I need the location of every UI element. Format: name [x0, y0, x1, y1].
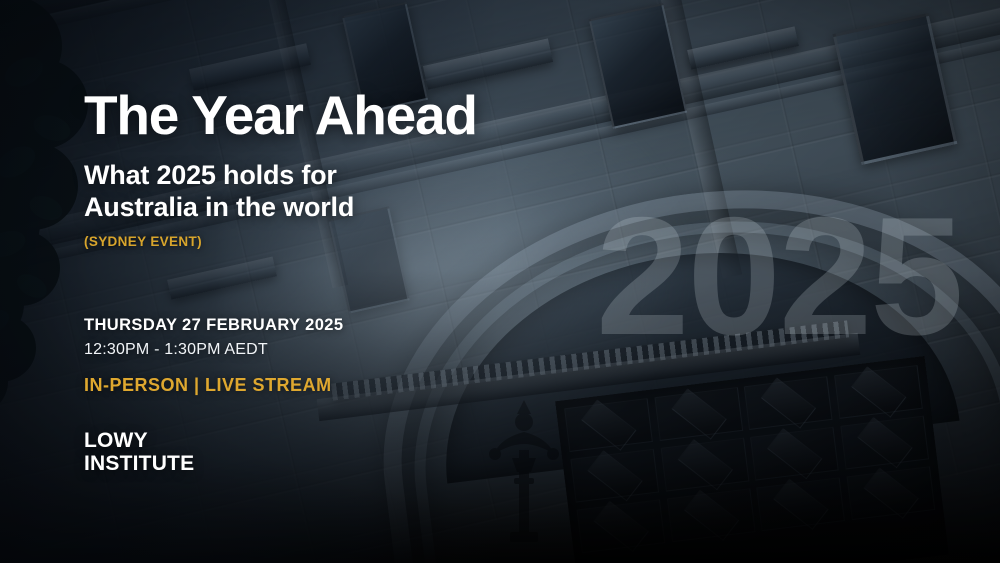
event-time: 12:30PM - 1:30PM AEDT: [84, 341, 268, 359]
event-date: THURSDAY 27 FEBRUARY 2025: [84, 316, 343, 335]
event-text-block: The Year Ahead What 2025 holds for Austr…: [84, 0, 644, 563]
logo-line-1: LOWY: [84, 430, 194, 453]
event-banner: 2025 The Year Ahead What 2025 holds for …: [0, 0, 1000, 563]
subheadline-line-1: What 2025 holds for: [84, 160, 354, 192]
event-headline: The Year Ahead: [84, 88, 477, 143]
logo-line-2: INSTITUTE: [84, 453, 194, 476]
lowy-institute-logo: LOWY INSTITUTE: [84, 430, 194, 475]
event-location-tag: (SYDNEY EVENT): [84, 234, 202, 249]
event-subheadline: What 2025 holds for Australia in the wor…: [84, 160, 354, 223]
event-format: IN-PERSON | LIVE STREAM: [84, 375, 332, 396]
subheadline-line-2: Australia in the world: [84, 192, 354, 224]
